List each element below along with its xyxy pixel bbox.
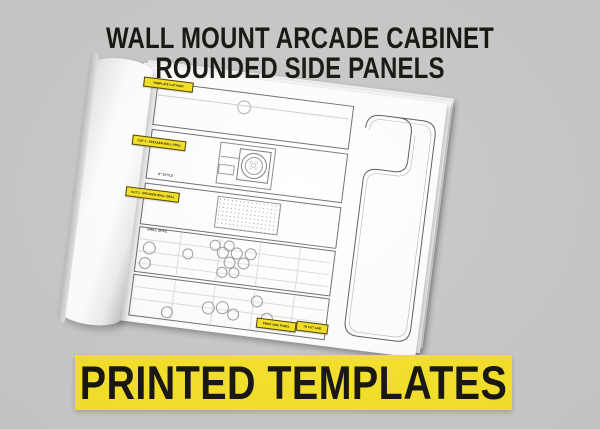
- tab-label-text: CUT 2 - SPEAKER WALL GRILL: [130, 190, 174, 199]
- banner-label: PRINTED TEMPLATES: [80, 359, 508, 406]
- tab-label-text: PRINT SIDE PANEL: [262, 321, 289, 328]
- speaker-note-box: [218, 164, 235, 176]
- title-line-1: WALL MOUNT ARCADE CABINET: [60, 24, 540, 53]
- blueprint-paper-stack: 8" STYLE GRILL SPEC TEMPLATE CUT PART CU…: [103, 64, 463, 365]
- poster-canvas: 8" STYLE GRILL SPEC TEMPLATE CUT PART CU…: [0, 0, 600, 429]
- tab-label-text: TO CUT LINE: [303, 324, 322, 330]
- speaker-grill-icon: [244, 156, 264, 176]
- paper-sheet-front: 8" STYLE GRILL SPEC TEMPLATE CUT PART CU…: [106, 65, 448, 358]
- printed-templates-banner: PRINTED TEMPLATES: [75, 355, 512, 410]
- tab-label-text: CUT 1 - SPEAKER WALL GRILL: [137, 138, 181, 147]
- tab-label-text: TEMPLATE CUT PART: [153, 81, 184, 89]
